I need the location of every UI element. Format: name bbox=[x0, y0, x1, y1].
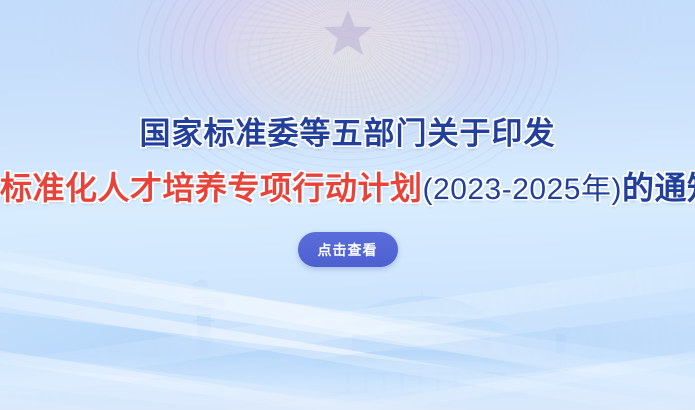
banner-title-line-1: 国家标准委等五部门关于印发 bbox=[0, 118, 695, 149]
banner-title-period: (2023-2025年) bbox=[423, 173, 622, 206]
policy-announcement-banner: 国家标准委等五部门关于印发 标准化人才培养专项行动计划(2023-2025年)的… bbox=[0, 0, 695, 410]
banner-title-suffix: 的通知 bbox=[622, 170, 695, 206]
banner-title-highlight: 标准化人才培养专项行动计划 bbox=[0, 170, 423, 206]
banner-title-line-2: 标准化人才培养专项行动计划(2023-2025年)的通知 bbox=[0, 172, 695, 205]
view-details-button[interactable]: 点击查看 bbox=[298, 232, 398, 267]
banner-content: 国家标准委等五部门关于印发 标准化人才培养专项行动计划(2023-2025年)的… bbox=[0, 0, 695, 410]
